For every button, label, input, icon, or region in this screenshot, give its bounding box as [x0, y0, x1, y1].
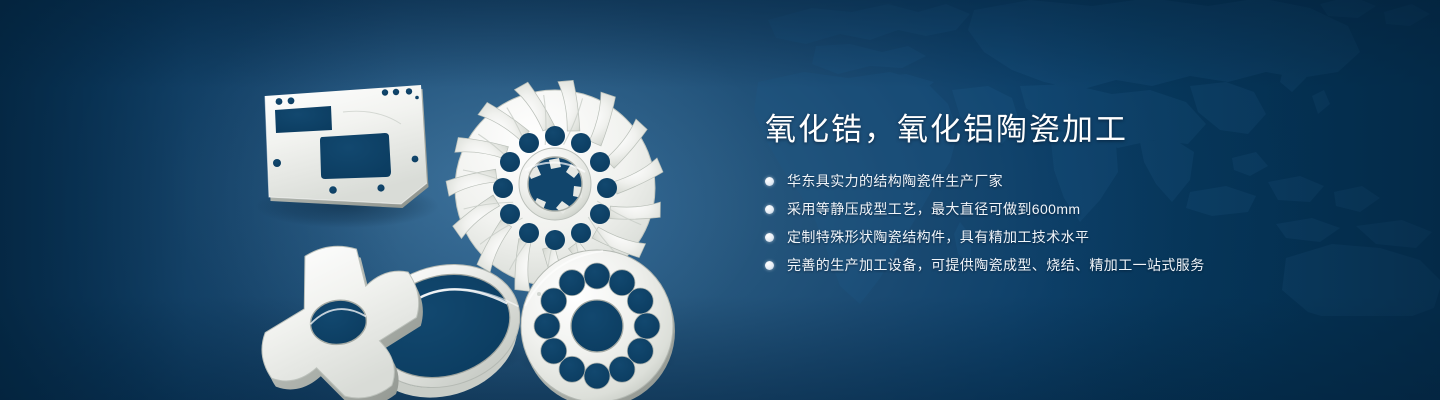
page-title: 氧化锆，氧化铝陶瓷加工: [765, 110, 1385, 150]
list-item: 定制特殊形状陶瓷结构件，具有精加工技术水平: [765, 227, 1385, 248]
ceramic-perforated-disc-shape: [521, 250, 675, 400]
hero-banner: 氧化锆，氧化铝陶瓷加工 华东具实力的结构陶瓷件生产厂家 采用等静压成型工艺，最大…: [0, 0, 1440, 400]
list-item: 完善的生产加工设备，可提供陶瓷成型、烧结、精加工一站式服务: [765, 255, 1385, 276]
list-item-label: 采用等静压成型工艺，最大直径可做到600mm: [787, 201, 1080, 217]
bullet-dot-icon: [765, 233, 774, 242]
bullet-dot-icon: [765, 205, 774, 214]
feature-list: 华东具实力的结构陶瓷件生产厂家 采用等静压成型工艺，最大直径可做到600mm 定…: [765, 171, 1385, 276]
bullet-dot-icon: [765, 261, 774, 270]
banner-copy: 氧化锆，氧化铝陶瓷加工 华东具实力的结构陶瓷件生产厂家 采用等静压成型工艺，最大…: [765, 110, 1385, 276]
ceramic-plate-shape: [265, 85, 429, 208]
list-item-label: 华东具实力的结构陶瓷件生产厂家: [787, 173, 1003, 189]
list-item: 采用等静压成型工艺，最大直径可做到600mm: [765, 199, 1385, 220]
ceramic-products-image: [225, 38, 695, 383]
list-item-label: 定制特殊形状陶瓷结构件，具有精加工技术水平: [787, 229, 1089, 245]
bullet-dot-icon: [765, 177, 774, 186]
list-item-label: 完善的生产加工设备，可提供陶瓷成型、烧结、精加工一站式服务: [787, 257, 1205, 273]
list-item: 华东具实力的结构陶瓷件生产厂家: [765, 171, 1385, 192]
